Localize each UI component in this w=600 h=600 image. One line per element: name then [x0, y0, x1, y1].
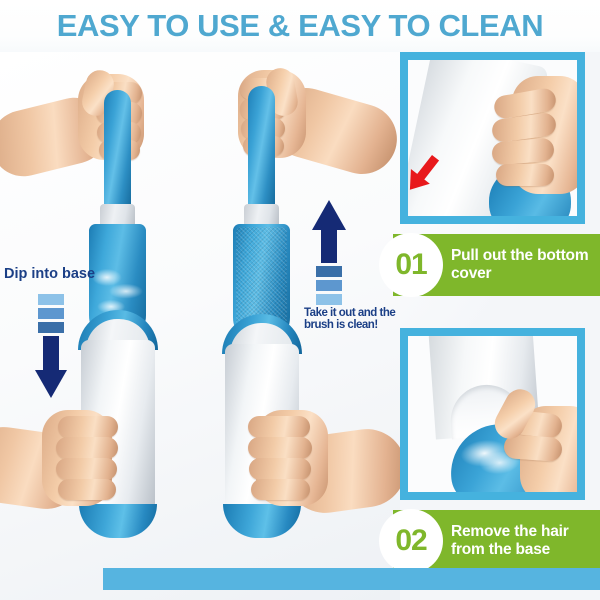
- infographic-stage: EASY TO USE & EASY TO CLEAN: [0, 0, 600, 600]
- arrow-block-medium: [38, 308, 64, 319]
- step-label-01: Pull out the bottom cover: [451, 247, 600, 284]
- finger-1: [58, 416, 118, 438]
- arrow-block-medium: [316, 280, 342, 291]
- finger-2: [56, 437, 118, 459]
- arrow-down-indicator: [36, 294, 66, 414]
- page-title: EASY TO USE & EASY TO CLEAN: [57, 8, 543, 44]
- panel-remove-hair-photo: [400, 328, 585, 500]
- finger-2: [248, 437, 312, 459]
- panel-pull-out-cover-photo: [400, 52, 585, 224]
- arrow-shaft: [321, 229, 337, 263]
- finger-1: [248, 416, 310, 438]
- step-bar-01[interactable]: 01 Pull out the bottom cover: [393, 234, 600, 296]
- step-number-badge-02: 02: [379, 509, 443, 573]
- arrow-block-light: [38, 294, 64, 305]
- arrow-up-indicator: [312, 200, 346, 316]
- bottom-accent-bar: [103, 568, 600, 590]
- photo-area: Dip into base: [0, 52, 400, 600]
- finger-3: [249, 458, 311, 480]
- title-band: EASY TO USE & EASY TO CLEAN: [0, 0, 600, 52]
- arrow-block-dark: [38, 322, 64, 333]
- annotation-take-it-out: Take it out and the brush is clean!: [304, 307, 396, 332]
- step-number-text: 02: [395, 524, 426, 558]
- arrow-shaft: [43, 336, 59, 372]
- arrow-head-up: [312, 200, 346, 230]
- step-number-text: 01: [395, 248, 426, 282]
- brush-handle: [248, 86, 275, 208]
- step-bar-02[interactable]: 02 Remove the hair from the base: [393, 510, 600, 572]
- arrow-block-light: [316, 294, 342, 305]
- finger-4: [496, 164, 554, 186]
- arrow-head-down: [35, 370, 67, 398]
- step-label-02: Remove the hair from the base: [451, 523, 600, 560]
- finger-3: [56, 458, 117, 480]
- finger-4: [58, 479, 116, 500]
- brush-handle: [104, 90, 131, 210]
- finger-4: [251, 479, 310, 500]
- step-number-badge-01: 01: [379, 233, 443, 297]
- right-column: 01 Pull out the bottom cover 02 Remove t…: [385, 52, 600, 600]
- arrow-block-dark: [316, 266, 342, 277]
- annotation-dip-into-base: Dip into base: [4, 267, 95, 283]
